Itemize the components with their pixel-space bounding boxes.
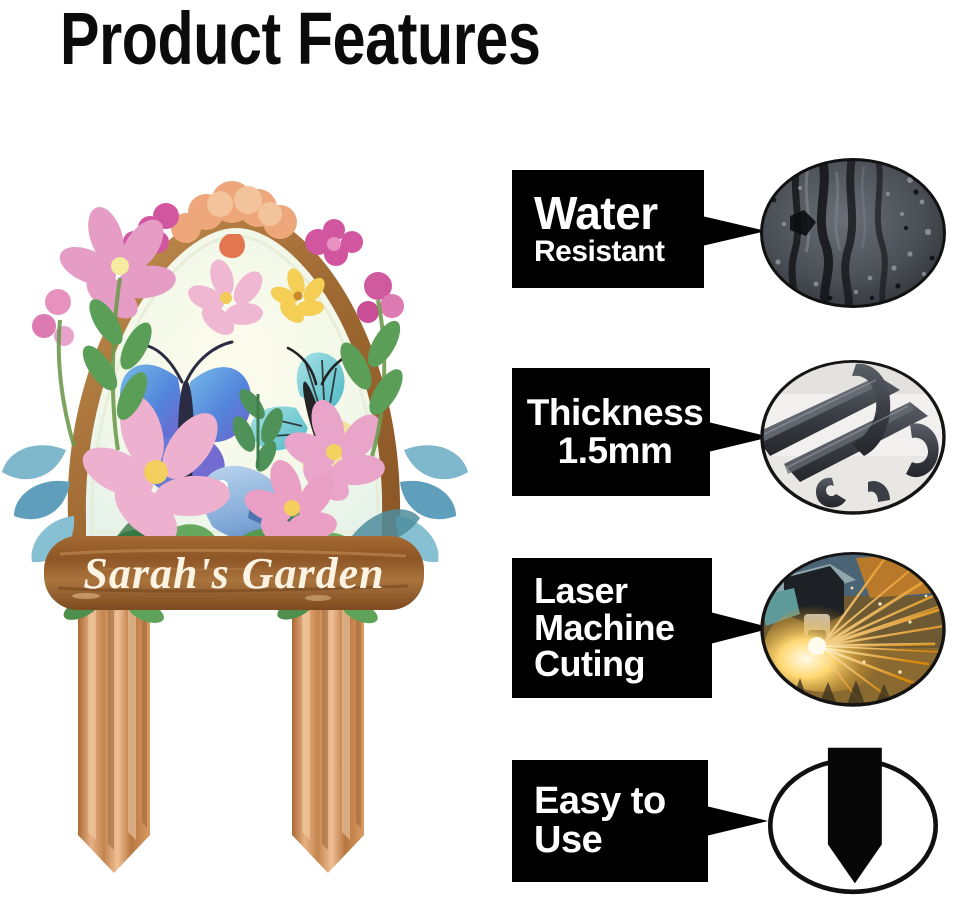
ground-stakes [78,602,364,873]
feature-label-line: Cuting [534,646,645,683]
feature-laser-cutting: Laser Machine Cuting [512,552,954,712]
sign-name-text: Sarah's Garden [83,549,384,598]
water-resistant-surface-icon [760,158,946,308]
name-plank: Sarah's Garden [44,536,424,610]
garden-sign-graphic: Sarah's Garden [0,150,500,880]
feature-easy-to-use: Easy to Use [512,748,954,898]
water-droplets-photo [760,158,946,308]
callout-arrow-icon [702,216,766,246]
product-illustration: Sarah's Garden [0,150,500,880]
feature-label-easy-to-use: Easy to Use [512,760,708,882]
material-thickness-icon [760,360,946,515]
laser-sparks-icon [760,552,946,707]
feature-label-line: Water [534,190,658,237]
easy-to-use-stake-icon [756,744,950,900]
pointed-stake-outline-icon [756,744,950,900]
thickness-closeup-photo [760,360,946,515]
feature-label-line: Easy to [534,782,666,821]
feature-label-line: Resistant [534,237,665,268]
page-title: Product Features [60,2,540,76]
feature-label-line: 1.5mm [558,432,673,470]
feature-label-thickness: Thickness 1.5mm [512,368,710,496]
feature-label-line: Thickness [527,394,703,432]
feature-label-line: Machine [534,610,675,647]
feature-label-line: Laser [534,573,628,610]
feature-thickness: Thickness 1.5mm [512,360,954,510]
feature-water-resistant: Water Resistant [512,158,954,308]
feature-label-water-resistant: Water Resistant [512,170,704,288]
feature-label-line: Use [534,821,602,860]
feature-label-laser-cutting: Laser Machine Cuting [512,558,712,698]
laser-cutting-photo [760,552,946,707]
